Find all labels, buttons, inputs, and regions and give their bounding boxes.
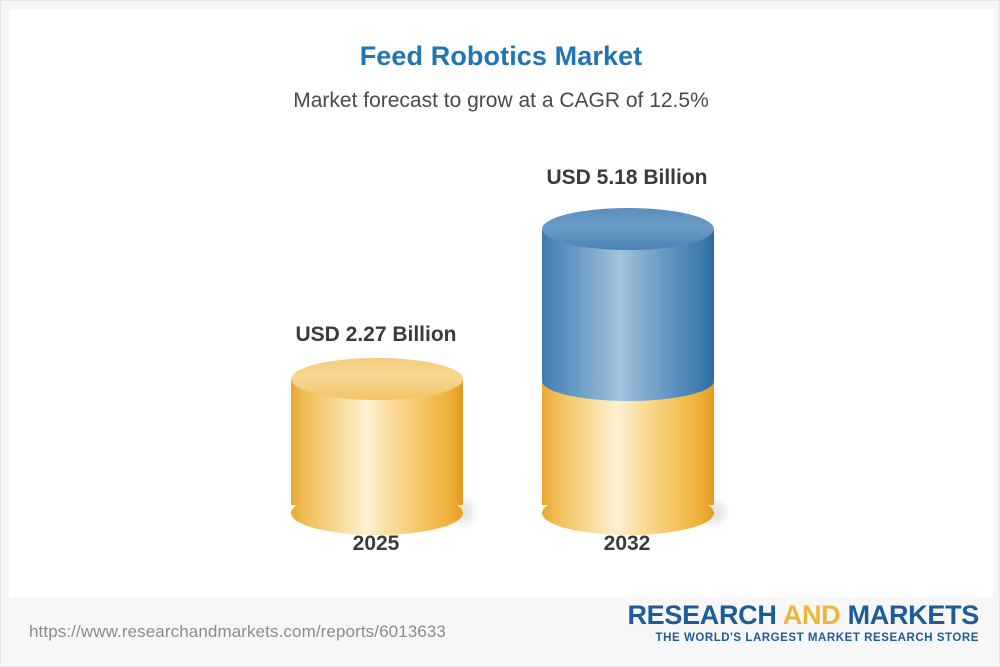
value-label-2025: USD 2.27 Billion bbox=[236, 323, 516, 347]
logo-and-text: AND bbox=[783, 600, 841, 630]
category-label-2025: 2025 bbox=[236, 532, 516, 556]
logo-research-text: RESEARCH bbox=[627, 600, 782, 630]
research-and-markets-logo[interactable]: RESEARCH AND MARKETS THE WORLD'S LARGEST… bbox=[627, 601, 979, 644]
chart-canvas: Feed Robotics Market Market forecast to … bbox=[0, 0, 1000, 667]
bar-top-cap-2032 bbox=[542, 208, 714, 250]
bar-bottom-cap-2025 bbox=[291, 491, 463, 535]
logo-markets-text: MARKETS bbox=[840, 600, 979, 630]
bar-growth-segment-2032 bbox=[542, 229, 714, 379]
logo-wordmark: RESEARCH AND MARKETS bbox=[627, 601, 979, 629]
page-title: Feed Robotics Market bbox=[1, 41, 1000, 72]
bar-bottom-cap-2032 bbox=[542, 491, 714, 535]
source-url[interactable]: https://www.researchandmarkets.com/repor… bbox=[29, 622, 446, 642]
bar-segment-divider-2032 bbox=[542, 361, 714, 401]
category-label-2032: 2032 bbox=[487, 532, 767, 556]
value-label-2032: USD 5.18 Billion bbox=[487, 166, 767, 190]
bar-top-cap-2025 bbox=[291, 358, 463, 400]
chart-subtitle: Market forecast to grow at a CAGR of 12.… bbox=[1, 89, 1000, 113]
logo-tagline: THE WORLD'S LARGEST MARKET RESEARCH STOR… bbox=[627, 632, 979, 644]
